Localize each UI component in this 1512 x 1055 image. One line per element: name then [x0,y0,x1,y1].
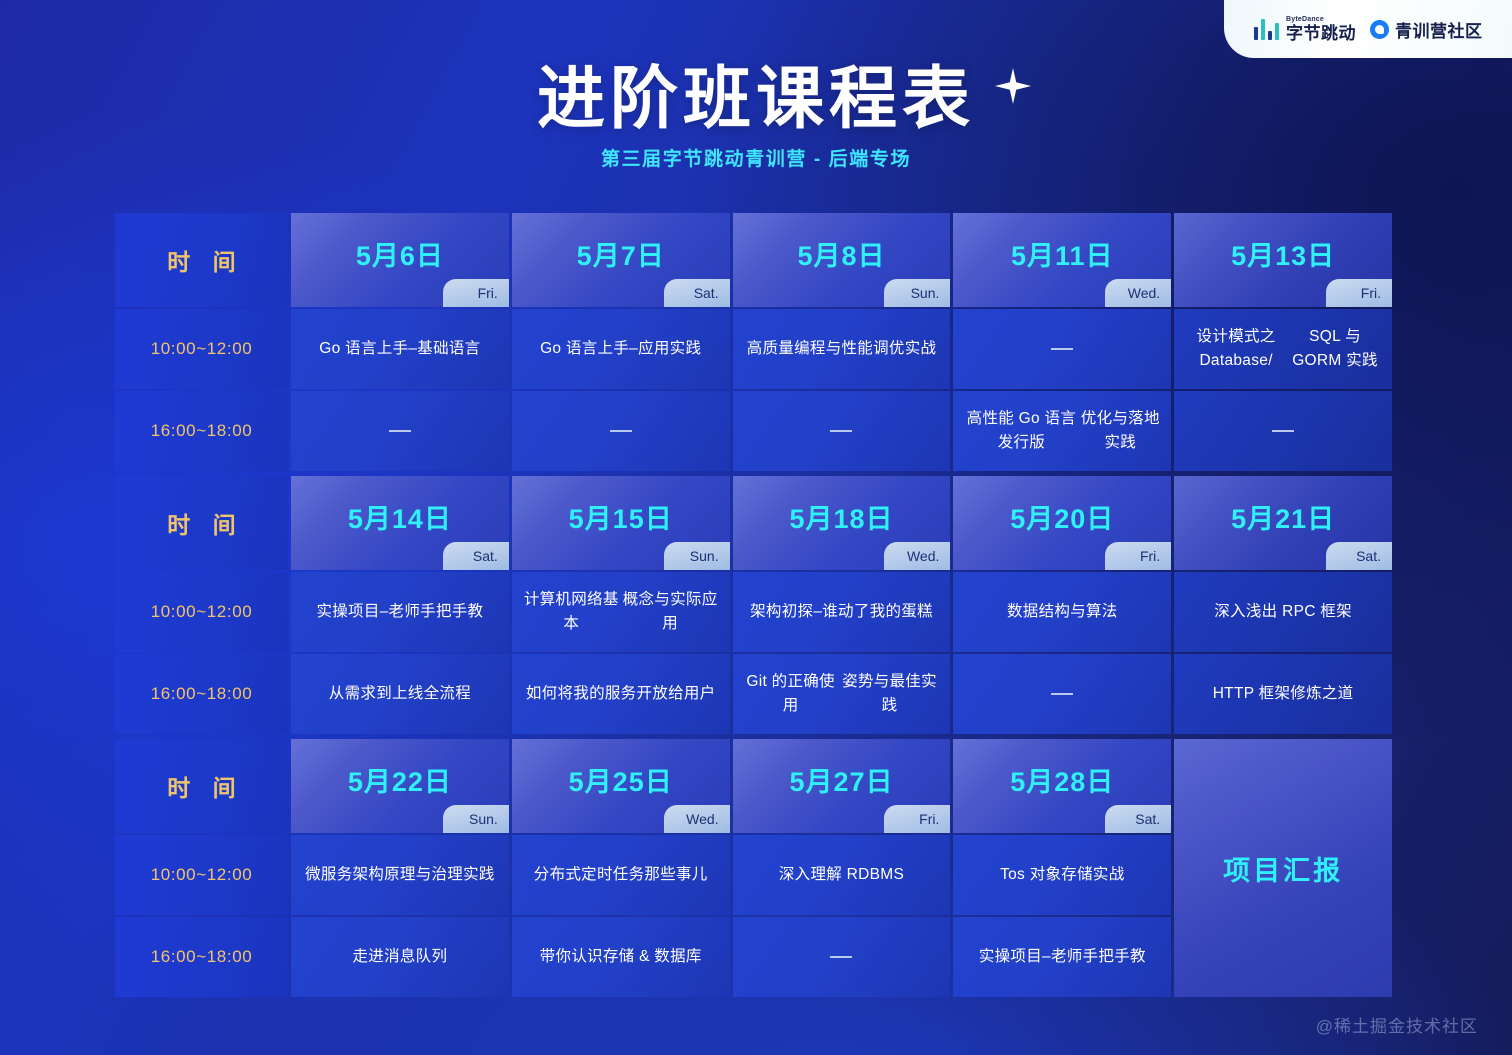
course-cell[interactable]: 深入理解 RDBMS [733,835,951,915]
course-title-line: 概念与实际应用 [621,588,720,636]
day-date: 5月15日 [569,497,673,536]
day-header-cell[interactable]: 5月18日Wed. [733,476,951,570]
course-cell[interactable]: 从需求到上线全流程 [291,654,509,734]
course-cell[interactable]: 计算机网络基本概念与实际应用 [512,572,730,652]
day-date: 5月14日 [348,497,452,536]
course-title-line: Git 的正确使用 [743,670,839,718]
weekday-badge: Sat. [1326,542,1392,570]
day-header-cell[interactable]: 5月25日Wed. [512,739,730,833]
schedule-body-row: 16:00~18:00高性能 Go 语言发行版优化与落地实践 [115,391,1392,471]
course-title-line: 走进消息队列 [352,945,447,969]
course-cell[interactable]: 实操项目–老师手把手教 [953,917,1171,997]
time-slot-label: 16:00~18:00 [115,654,288,734]
day-date: 5月13日 [1231,234,1335,273]
schedule-block: 时 间5月14日Sat.5月15日Sun.5月18日Wed.5月20日Fri.5… [115,476,1392,734]
weekday-badge: Fri. [443,279,509,307]
course-title-line: Go 语言上手–应用实践 [540,337,701,361]
time-column-header: 时 间 [115,739,288,833]
course-cell[interactable]: Go 语言上手–应用实践 [512,309,730,389]
day-header-cell[interactable]: 5月13日Fri. [1174,213,1392,307]
qingxunying-mark-icon [1370,20,1389,39]
course-title-line: 高性能 Go 语言发行版 [963,407,1079,455]
schedule-body-row: 10:00~12:00Go 语言上手–基础语言Go 语言上手–应用实践高质量编程… [115,309,1392,389]
qingxunying-logo-cn: 青训营社区 [1395,17,1483,42]
project-report-cell[interactable]: 项目汇报 [1174,739,1392,997]
empty-dash-icon [830,430,852,432]
page-title: 进阶班课程表 [537,64,975,135]
weekday-badge: Fri. [884,805,950,833]
time-slot-label: 10:00~12:00 [115,835,288,915]
schedule-table: 时 间5月6日Fri.5月7日Sat.5月8日Sun.5月11日Wed.5月13… [115,213,1392,999]
weekday-badge: Sat. [664,279,730,307]
course-cell[interactable]: 带你认识存储 & 数据库 [512,917,730,997]
course-title-line: 如何将我的服务 [526,682,637,706]
course-title-line: Tos 对象存储实战 [1000,863,1124,887]
day-header-cell[interactable]: 5月8日Sun. [733,213,951,307]
course-title-line: 深入浅出 RPC 框架 [1214,600,1352,624]
empty-dash-icon [1051,348,1073,350]
weekday-badge: Sat. [1105,805,1171,833]
course-cell[interactable]: 实操项目–老师手把手教 [291,572,509,652]
schedule-body-row: 10:00~12:00实操项目–老师手把手教计算机网络基本概念与实际应用架构初探… [115,572,1392,652]
bytedance-logo-en: ByteDance [1286,16,1356,23]
weekday-badge: Wed. [1105,279,1171,307]
course-cell-empty[interactable] [953,309,1171,389]
course-title-line: 实操项目–老师手把手教 [316,600,483,624]
day-header-cell[interactable]: 5月21日Sat. [1174,476,1392,570]
schedule-block: 时 间5月6日Fri.5月7日Sat.5月8日Sun.5月11日Wed.5月13… [115,213,1392,471]
schedule-header-row: 时 间5月6日Fri.5月7日Sat.5月8日Sun.5月11日Wed.5月13… [115,213,1392,307]
day-date: 5月11日 [1011,234,1114,273]
course-title-line: 高质量编程与性能调优实战 [747,337,937,361]
day-header-cell[interactable]: 5月14日Sat. [291,476,509,570]
brand-logo-pill: ByteDance 字节跳动 青训营社区 [1224,0,1512,58]
schedule-header-row: 时 间5月14日Sat.5月15日Sun.5月18日Wed.5月20日Fri.5… [115,476,1392,570]
day-date: 5月7日 [577,234,665,273]
course-cell-empty[interactable] [291,391,509,471]
day-date: 5月20日 [1010,497,1114,536]
course-title-line: 实操项目–老师手把手教 [979,945,1146,969]
course-title-line: 从需求到上线全流程 [329,682,471,706]
weekday-badge: Fri. [1326,279,1392,307]
day-date: 5月6日 [356,234,444,273]
weekday-badge: Sat. [443,542,509,570]
time-column-header: 时 间 [115,213,288,307]
day-date: 5月27日 [789,760,893,799]
course-title-line: 微服务架构原理与治理实践 [305,863,495,887]
day-header-cell[interactable]: 5月28日Sat. [953,739,1171,833]
course-cell-empty[interactable] [733,391,951,471]
weekday-badge: Sun. [443,805,509,833]
course-cell[interactable]: 高性能 Go 语言发行版优化与落地实践 [953,391,1171,471]
empty-dash-icon [1272,430,1294,432]
course-cell-empty[interactable] [953,654,1171,734]
day-header-cell[interactable]: 5月27日Fri. [733,739,951,833]
empty-dash-icon [389,430,411,432]
day-header-cell[interactable]: 5月11日Wed. [953,213,1171,307]
course-cell[interactable]: 走进消息队列 [291,917,509,997]
course-cell[interactable]: Go 语言上手–基础语言 [291,309,509,389]
time-slot-label: 16:00~18:00 [115,391,288,471]
day-header-cell[interactable]: 5月22日Sun. [291,739,509,833]
day-header-cell[interactable]: 5月20日Fri. [953,476,1171,570]
course-cell[interactable]: Tos 对象存储实战 [953,835,1171,915]
course-cell[interactable]: 深入浅出 RPC 框架 [1174,572,1392,652]
title-block: 进阶班课程表 第三届字节跳动青训营 - 后端专场 [0,64,1512,171]
course-title-line: 设计模式之 Database/ [1184,325,1288,373]
course-title-line: Go 语言上手–基础语言 [319,337,480,361]
course-cell[interactable]: 数据结构与算法 [953,572,1171,652]
day-date: 5月22日 [348,760,452,799]
day-header-cell[interactable]: 5月7日Sat. [512,213,730,307]
course-cell[interactable]: HTTP 框架修炼之道 [1174,654,1392,734]
sparkle-icon [993,66,1033,106]
course-title-line: 深入理解 RDBMS [779,863,904,887]
day-date: 5月18日 [789,497,893,536]
qingxunying-logo: 青训营社区 [1370,17,1483,42]
watermark: @稀土掘金技术社区 [1316,1012,1478,1037]
course-title-line: 分布式定时任务那些事儿 [534,863,708,887]
time-slot-label: 10:00~12:00 [115,309,288,389]
empty-dash-icon [1051,693,1073,695]
course-title-line: 数据结构与算法 [1007,600,1118,624]
time-column-header: 时 间 [115,476,288,570]
course-cell-empty[interactable] [512,391,730,471]
course-title-line: 开放给用户 [636,682,715,706]
course-cell[interactable]: 架构初探–谁动了我的蛋糕 [733,572,951,652]
empty-dash-icon [610,430,632,432]
weekday-badge: Wed. [664,805,730,833]
course-cell[interactable]: Git 的正确使用姿势与最佳实践 [733,654,951,734]
schedule-body-row: 16:00~18:00从需求到上线全流程如何将我的服务开放给用户Git 的正确使… [115,654,1392,734]
bytedance-logo: ByteDance 字节跳动 [1254,16,1357,42]
course-cell[interactable]: 分布式定时任务那些事儿 [512,835,730,915]
time-slot-label: 10:00~12:00 [115,572,288,652]
day-date: 5月21日 [1231,497,1335,536]
page-title-text: 进阶班课程表 [537,61,975,137]
weekday-badge: Sun. [884,279,950,307]
course-title-line: 优化与落地实践 [1079,407,1161,455]
page-subtitle: 第三届字节跳动青训营 - 后端专场 [0,144,1512,171]
course-title-line: 带你认识存储 & 数据库 [540,945,702,969]
course-cell[interactable]: 设计模式之 Database/SQL 与 GORM 实践 [1174,309,1392,389]
day-header-cell[interactable]: 5月6日Fri. [291,213,509,307]
day-header-cell[interactable]: 5月15日Sun. [512,476,730,570]
schedule-block: 时 间5月22日Sun.5月25日Wed.5月27日Fri.5月28日Sat.1… [115,739,1392,997]
weekday-badge: Sun. [664,542,730,570]
empty-dash-icon [830,956,852,958]
weekday-badge: Fri. [1105,542,1171,570]
day-date: 5月28日 [1010,760,1114,799]
course-title-line: 计算机网络基本 [522,588,621,636]
course-title-line: HTTP 框架修炼之道 [1213,682,1354,706]
course-title-line: 架构初探–谁动了我的蛋糕 [750,600,933,624]
course-cell[interactable]: 微服务架构原理与治理实践 [291,835,509,915]
weekday-badge: Wed. [884,542,950,570]
course-title-line: 姿势与最佳实践 [839,670,941,718]
course-cell[interactable]: 如何将我的服务开放给用户 [512,654,730,734]
day-date: 5月25日 [569,760,673,799]
course-cell-empty[interactable] [733,917,951,997]
course-title-line: SQL 与 GORM 实践 [1288,325,1382,373]
bytedance-logo-cn: 字节跳动 [1286,25,1356,42]
day-date: 5月8日 [797,234,885,273]
course-cell-empty[interactable] [1174,391,1392,471]
course-cell[interactable]: 高质量编程与性能调优实战 [733,309,951,389]
time-slot-label: 16:00~18:00 [115,917,288,997]
bytedance-bars-icon [1254,19,1280,40]
